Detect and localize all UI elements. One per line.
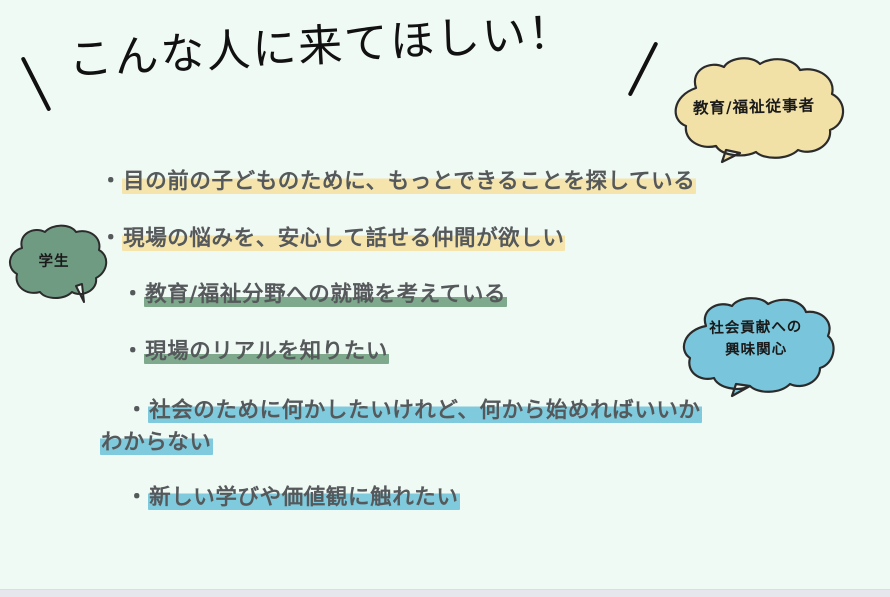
bullet-text: 現場の悩みを、安心して話せる仲間が欲しい [122, 226, 565, 251]
bullet-text: 新しい学びや価値観に触れたい [148, 485, 459, 510]
bullet-line: ・現場の悩みを、安心して話せる仲間が欲しい [100, 223, 800, 256]
speech-bubble-shape [678, 298, 838, 396]
speech-bubble-shape [660, 58, 852, 162]
list-item: ・新しい学びや価値観に触れたい [126, 482, 800, 515]
bullet-marker: ・ [122, 339, 144, 364]
list-item: ・現場の悩みを、安心して話せる仲間が欲しい [100, 223, 800, 256]
bullet-line: ・社会のために何かしたいけれど、何から始めればいいか [126, 395, 800, 428]
bullet-marker: ・ [126, 485, 148, 510]
bullet-line-continued: わからない [100, 427, 800, 460]
bullet-marker: ・ [122, 282, 144, 307]
slide-title-group: こんな人に来てほしい！ [28, 36, 668, 126]
page-title: こんな人に来てほしい！ [67, 8, 575, 87]
bullet-text: 目の前の子どものために、もっとできることを探している [122, 169, 696, 194]
bullet-line: ・新しい学びや価値観に触れたい [126, 482, 800, 515]
bullet-text: 社会のために何かしたいけれど、何から始めればいいか [148, 398, 701, 423]
bullet-marker: ・ [100, 169, 122, 194]
bullet-line: ・目の前の子どものために、もっとできることを探している [100, 166, 800, 199]
speech-bubble-student: 学生 [2, 224, 112, 306]
title-right-slash-icon [628, 41, 659, 96]
slide-canvas: こんな人に来てほしい！ ・目の前の子どものために、もっとできることを探している … [0, 0, 890, 589]
list-item: ・目の前の子どものために、もっとできることを探している [100, 166, 800, 199]
title-left-slash-icon [21, 56, 52, 111]
bullet-text-continued: わからない [100, 430, 213, 455]
speech-bubble-social-contribution-interest: 社会貢献への 興味関心 [678, 298, 838, 396]
speech-bubble-shape [2, 224, 112, 306]
list-item: ・社会のために何かしたいけれど、何から始めればいいか わからない [126, 395, 800, 460]
bullet-marker: ・ [126, 398, 148, 423]
viewer-bottom-bar [0, 589, 890, 597]
bullet-text: 現場のリアルを知りたい [144, 339, 389, 364]
speech-bubble-education-welfare-worker: 教育/福祉従事者 [660, 58, 852, 162]
slide-viewport: こんな人に来てほしい！ ・目の前の子どものために、もっとできることを探している … [0, 0, 890, 597]
bullet-text: 教育/福祉分野への就職を考えている [144, 282, 507, 307]
